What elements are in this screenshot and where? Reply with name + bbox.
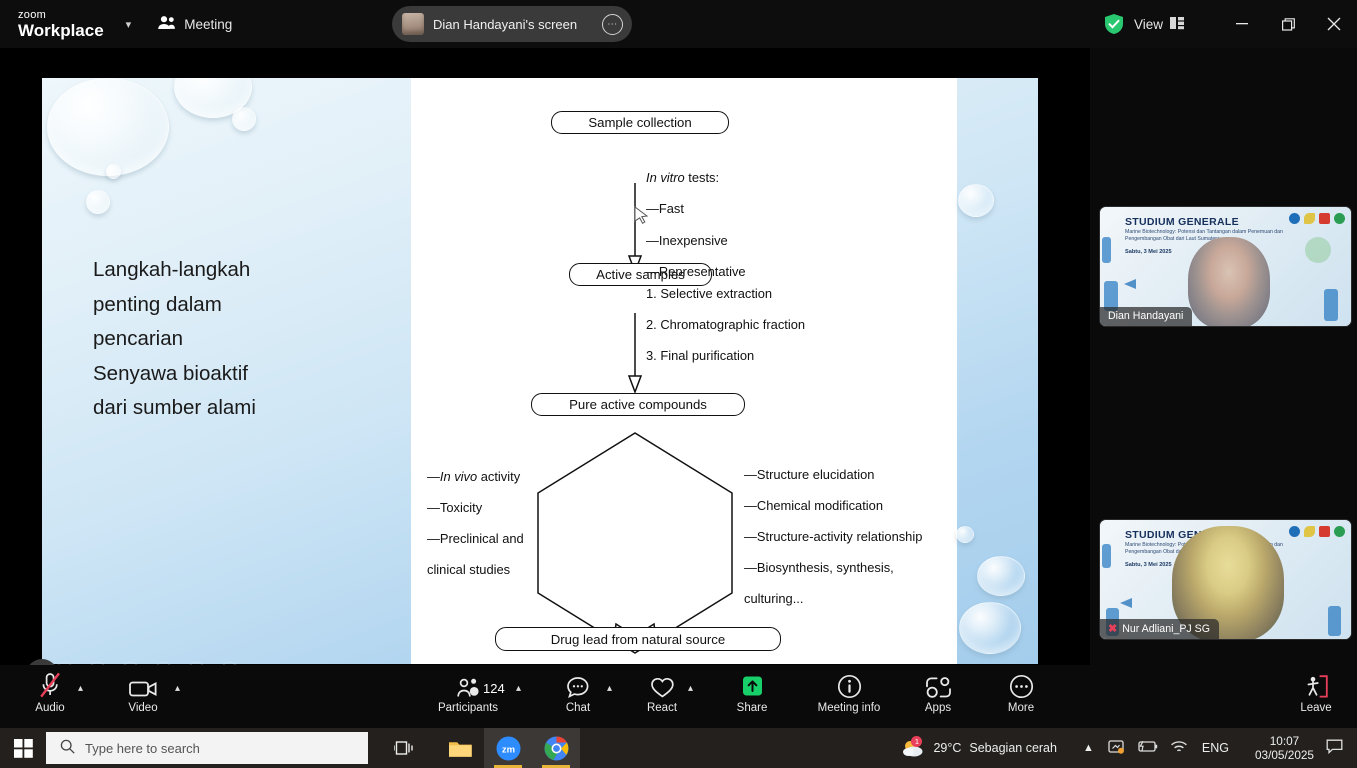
zoom-logo-line1: zoom (18, 10, 104, 21)
annotation-item: 2. Chromatographic fraction (646, 317, 805, 333)
presentation-slide[interactable]: Langkah-langkah penting dalam pencarian … (42, 78, 1038, 664)
more-icon (1009, 671, 1034, 699)
participants-button[interactable]: Participants (422, 671, 514, 723)
more-label: More (1008, 702, 1034, 714)
microphone-muted-icon (38, 671, 62, 699)
taskbar-clock[interactable]: 10:07 03/05/2025 (1255, 734, 1314, 762)
clock-time: 10:07 (1255, 734, 1314, 748)
svg-text:zm: zm (501, 744, 514, 755)
weather-widget[interactable]: 1 29°C Sebagian cerah (901, 738, 1057, 758)
flow-node-label: Drug lead from natural source (551, 632, 725, 647)
apps-button[interactable]: Apps (892, 671, 984, 723)
camera-icon (129, 671, 158, 699)
annotation-rest: activity (477, 469, 520, 484)
title-bar-right: View (1104, 0, 1357, 48)
f5-logo-icon (1319, 526, 1330, 537)
flow-node-drug-lead[interactable]: Drug lead from natural source (495, 627, 781, 651)
leave-icon (1303, 671, 1330, 699)
shared-screen-label: Dian Handayani's screen (433, 17, 577, 32)
annotation-item: —Biosynthesis, synthesis, (744, 560, 922, 576)
coral-decoration (1102, 544, 1111, 568)
chat-label: Chat (566, 702, 590, 714)
fish-decoration (1120, 598, 1132, 608)
participants-icon (455, 671, 482, 699)
audio-button[interactable]: Audio (4, 671, 96, 723)
annotation-purification-steps: 1. Selective extraction 2. Chromatograph… (646, 270, 805, 379)
people-icon (157, 15, 176, 33)
pharmacy-logo-icon (1334, 213, 1345, 224)
participants-label: Participants (438, 702, 498, 714)
chrome-icon[interactable] (532, 728, 580, 768)
annotation-item: clinical studies (427, 562, 524, 578)
shared-screen-stage: Langkah-langkah penting dalam pencarian … (0, 48, 1090, 665)
meeting-tab-label: Meeting (184, 17, 232, 32)
meeting-tab[interactable]: Meeting (157, 15, 232, 33)
minimize-button[interactable] (1219, 0, 1265, 48)
annotation-item: —Inexpensive (646, 233, 746, 249)
participant-name: Nur Adliani_PJ SG (1122, 623, 1210, 635)
thumbnail-slide-date: Sabtu, 3 Mei 2025 (1125, 249, 1172, 255)
shared-screen-pill[interactable]: Dian Handayani's screen ⋯ (392, 6, 632, 42)
video-button[interactable]: Video (97, 671, 189, 723)
zoom-app-icon[interactable]: zm (484, 728, 532, 768)
meeting-info-label: Meeting info (818, 702, 881, 714)
react-caret-icon[interactable]: ▴ (688, 683, 693, 694)
search-icon (60, 739, 75, 757)
apps-icon (925, 671, 952, 699)
close-button[interactable] (1311, 0, 1357, 48)
participants-count: 124 (483, 681, 505, 696)
annotation-right-structure: —Structure elucidation —Chemical modific… (744, 451, 922, 623)
annotation-left-title: —In vivo activity (427, 469, 524, 485)
annotation-item: —Fast (646, 201, 746, 217)
weather-icon: 1 (901, 738, 925, 758)
weather-description: Sebagian cerah (969, 741, 1057, 755)
annotation-item: —Structure elucidation (744, 467, 922, 483)
zoom-meeting-window: zoom Workplace ▾ Meeting Dian Handayani'… (0, 0, 1357, 768)
maximize-button[interactable] (1265, 0, 1311, 48)
avatar (402, 13, 424, 35)
zoom-logo: zoom Workplace (18, 10, 104, 39)
video-caret-icon[interactable]: ▴ (175, 683, 180, 694)
language-indicator[interactable]: ENG (1202, 741, 1229, 755)
meeting-control-bar: Audio ▴ Video ▴ Participants (0, 665, 1357, 728)
share-label: Share (737, 702, 768, 714)
weather-temperature: 29°C (933, 741, 961, 755)
participant-name-badge: Dian Handayani (1100, 307, 1192, 326)
annotation-italic: In vivo (440, 469, 477, 484)
apps-label: Apps (925, 702, 951, 714)
annotation-item: 3. Final purification (646, 348, 805, 364)
annotation-item: 1. Selective extraction (646, 286, 805, 302)
share-screen-icon (739, 671, 766, 699)
battery-icon[interactable] (1136, 740, 1158, 756)
participant-video (1188, 237, 1270, 327)
shield-check-icon[interactable] (1104, 13, 1124, 35)
video-label: Video (128, 702, 157, 714)
participant-name: Dian Handayani (1108, 310, 1183, 322)
notification-icon[interactable] (1326, 739, 1343, 757)
show-hidden-icons-chevron[interactable]: ▲ (1083, 742, 1094, 754)
institution-logo-icon (1289, 526, 1300, 537)
f5-logo-icon (1319, 213, 1330, 224)
onedrive-icon[interactable] (1108, 739, 1124, 757)
participant-thumbnail[interactable]: STUDIUM GENERALE Marine Biotechnology: P… (1099, 206, 1352, 327)
leaf-logo-icon (1304, 526, 1315, 537)
heart-icon (650, 671, 675, 699)
coral-decoration (1102, 237, 1111, 263)
search-input[interactable]: Type here to search (46, 732, 368, 764)
more-options-icon[interactable]: ⋯ (602, 14, 623, 35)
annotation-left-invivo: —In vivo activity —Toxicity —Preclinical… (427, 453, 524, 593)
audio-label: Audio (35, 702, 64, 714)
annotation-item: culturing... (744, 591, 922, 607)
chat-caret-icon[interactable]: ▴ (607, 683, 612, 694)
annotation-in-vitro-title: In vitro tests: (646, 155, 746, 186)
thumbnail-logos (1289, 526, 1345, 537)
annotation-item: —Preclinical and (427, 531, 524, 547)
coral-decoration (1324, 289, 1338, 321)
participant-thumbnail[interactable]: STUDIUM GENERALE Marine Biotechnology: P… (1099, 519, 1352, 640)
thumbnail-logos (1289, 213, 1345, 224)
fish-decoration (1124, 279, 1136, 289)
react-label: React (647, 702, 677, 714)
share-button[interactable]: Share (706, 671, 798, 723)
institution-logo-icon (1289, 213, 1300, 224)
clock-date: 03/05/2025 (1255, 748, 1314, 762)
layout-icon (1170, 16, 1185, 33)
folder-icon[interactable] (436, 728, 484, 768)
chevron-down-icon[interactable]: ▾ (126, 18, 132, 31)
flow-node-label: Pure active compounds (569, 397, 707, 412)
chat-button[interactable]: Chat (532, 671, 624, 723)
annotation-item: —Chemical modification (744, 498, 922, 514)
flow-node-sample-collection[interactable]: Sample collection (551, 111, 729, 134)
thumbnail-slide-title: STUDIUM GENERALE (1125, 216, 1239, 228)
annotation-rest: tests: (685, 170, 719, 185)
coral-decoration (1328, 606, 1341, 636)
search-placeholder: Type here to search (85, 741, 200, 756)
leave-button[interactable]: Leave (1270, 671, 1357, 723)
video-filmstrip: STUDIUM GENERALE Marine Biotechnology: P… (1090, 48, 1357, 665)
audio-caret-icon[interactable]: ▴ (78, 683, 83, 694)
pharmacy-logo-icon (1334, 526, 1345, 537)
windows-taskbar: Type here to search zm (0, 728, 1357, 768)
flow-node-pure-active-compounds[interactable]: Pure active compounds (531, 393, 745, 416)
task-view-icon[interactable] (380, 728, 428, 768)
mouse-cursor-icon (634, 206, 650, 226)
chat-icon (566, 671, 590, 699)
react-button[interactable]: React (616, 671, 708, 723)
flow-node-label: Sample collection (588, 115, 691, 130)
mic-muted-icon: ✖ (1108, 622, 1117, 635)
title-bar: zoom Workplace ▾ Meeting Dian Handayani'… (0, 0, 1357, 48)
leave-label: Leave (1300, 702, 1331, 714)
annotation-italic: In vitro (646, 170, 685, 185)
view-button[interactable]: View (1134, 16, 1185, 33)
coral-decoration (1305, 237, 1331, 263)
annotation-item: —Toxicity (427, 500, 524, 516)
info-icon (837, 671, 862, 699)
windows-start-icon[interactable] (0, 728, 46, 768)
thumbnail-slide-date: Sabtu, 3 Mei 2025 (1125, 562, 1172, 568)
participants-caret-icon[interactable]: ▴ (516, 683, 521, 694)
participant-name-badge: ✖ Nur Adliani_PJ SG (1100, 619, 1219, 639)
wifi-icon[interactable] (1170, 740, 1188, 757)
zoom-logo-line2: Workplace (18, 22, 104, 39)
annotation-item: —Structure-activity relationship (744, 529, 922, 545)
more-button[interactable]: More (975, 671, 1067, 723)
leaf-logo-icon (1304, 213, 1315, 224)
system-tray: 1 29°C Sebagian cerah ▲ (901, 728, 1357, 768)
view-label: View (1134, 17, 1163, 32)
meeting-info-button[interactable]: Meeting info (803, 671, 895, 723)
